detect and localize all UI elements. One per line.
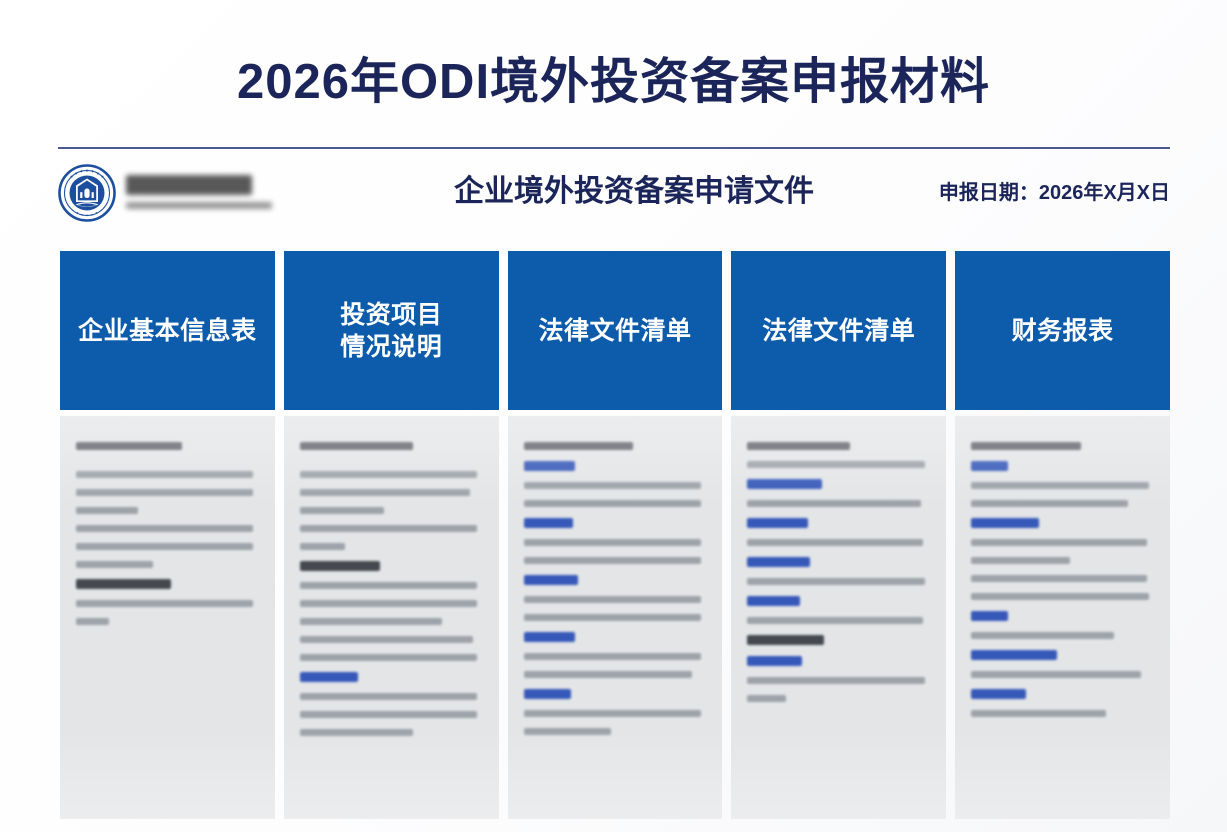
text-line-blue bbox=[524, 689, 572, 699]
text-line-blue bbox=[524, 518, 573, 528]
col-enterprise-info[interactable]: 企业基本信息表 bbox=[60, 251, 275, 819]
text-line-body bbox=[524, 500, 701, 507]
material-columns: 企业基本信息表投资项目 情况说明法律文件清单法律文件清单财务报表 bbox=[60, 251, 1170, 819]
text-line-body bbox=[971, 593, 1148, 600]
text-line-body bbox=[300, 711, 477, 718]
col-project-description-body bbox=[284, 416, 499, 819]
col-legal-docs-1-header-label: 法律文件清单 bbox=[538, 315, 691, 347]
text-line-body bbox=[524, 653, 701, 660]
text-line-body bbox=[747, 500, 921, 507]
col-legal-docs-2[interactable]: 法律文件清单 bbox=[731, 251, 946, 819]
col-financial-statements-header[interactable]: 财务报表 bbox=[955, 251, 1170, 410]
col-financial-statements-text-block bbox=[971, 442, 1154, 717]
text-line-body bbox=[747, 617, 922, 624]
text-line-dark bbox=[76, 442, 182, 450]
text-line-dark bbox=[300, 442, 413, 450]
text-line-body bbox=[747, 461, 924, 468]
text-line-heading bbox=[300, 561, 380, 571]
col-project-description-text-block bbox=[300, 442, 483, 736]
text-line-gap bbox=[76, 461, 259, 465]
text-line-body bbox=[300, 525, 477, 532]
text-line-body bbox=[76, 618, 109, 625]
text-line-body bbox=[300, 582, 477, 589]
col-enterprise-info-body bbox=[60, 416, 275, 819]
slide-page: 2026年ODI境外投资备案申报材料 bbox=[0, 0, 1227, 832]
text-line-body bbox=[971, 500, 1128, 507]
text-line-body bbox=[76, 507, 138, 514]
text-line-blue bbox=[747, 596, 800, 606]
text-line-heading bbox=[76, 579, 171, 589]
text-line-body bbox=[971, 575, 1146, 582]
text-line-dark bbox=[971, 442, 1081, 450]
text-line-blue bbox=[971, 650, 1057, 660]
text-line-body bbox=[300, 600, 477, 607]
text-line-blue bbox=[524, 575, 579, 585]
text-line-blue bbox=[971, 518, 1039, 528]
text-line-body bbox=[300, 654, 477, 661]
col-legal-docs-1-text-block bbox=[524, 442, 707, 735]
col-project-description-header[interactable]: 投资项目 情况说明 bbox=[284, 251, 499, 410]
text-line-body bbox=[76, 600, 253, 607]
text-line-blue bbox=[971, 689, 1026, 699]
company-seal-icon bbox=[58, 164, 116, 222]
text-line-body bbox=[747, 578, 924, 585]
text-line-body bbox=[300, 507, 384, 514]
text-line-body bbox=[524, 539, 701, 546]
text-line-body bbox=[300, 636, 474, 643]
document-subtitle: 企业境外投资备案申请文件 bbox=[374, 170, 894, 214]
col-project-description-header-label: 投资项目 情况说明 bbox=[340, 299, 442, 363]
col-legal-docs-2-body bbox=[731, 416, 946, 819]
text-line-body bbox=[76, 489, 253, 496]
text-line-blue bbox=[747, 479, 822, 489]
text-line-body bbox=[76, 525, 253, 532]
text-line-blue bbox=[300, 672, 358, 682]
col-legal-docs-2-header[interactable]: 法律文件清单 bbox=[731, 251, 946, 410]
submission-date: 申报日期：2026年X月X日 bbox=[939, 178, 1170, 208]
text-line-blue bbox=[524, 461, 575, 471]
text-line-body bbox=[971, 482, 1148, 489]
text-line-blue bbox=[747, 656, 802, 666]
text-line-blue bbox=[747, 557, 809, 567]
text-line-body bbox=[300, 471, 477, 478]
text-line-dark bbox=[524, 442, 634, 450]
text-line-body bbox=[524, 710, 701, 717]
text-line-body bbox=[524, 728, 612, 735]
text-line-body bbox=[524, 482, 701, 489]
col-enterprise-info-text-block bbox=[76, 442, 259, 625]
text-line-body bbox=[747, 677, 924, 684]
brand-logo bbox=[58, 162, 290, 224]
text-line-body bbox=[524, 671, 692, 678]
col-legal-docs-1-body bbox=[508, 416, 723, 819]
text-line-body bbox=[300, 618, 443, 625]
col-legal-docs-2-header-label: 法律文件清单 bbox=[762, 315, 915, 347]
col-financial-statements-body bbox=[955, 416, 1170, 819]
text-line-body bbox=[971, 632, 1114, 639]
col-legal-docs-2-text-block bbox=[747, 442, 930, 702]
text-line-heading bbox=[747, 635, 824, 645]
text-line-body bbox=[747, 539, 922, 546]
text-line-blue bbox=[747, 518, 807, 528]
text-line-body bbox=[971, 710, 1106, 717]
subheader-row: 企业境外投资备案申请文件 申报日期：2026年X月X日 bbox=[58, 158, 1170, 236]
text-line-dark bbox=[747, 442, 849, 450]
text-line-body bbox=[76, 561, 153, 568]
col-financial-statements-header-label: 财务报表 bbox=[1012, 315, 1114, 347]
text-line-body bbox=[524, 557, 701, 564]
col-enterprise-info-header-label: 企业基本信息表 bbox=[78, 315, 257, 347]
page-title-bar: 2026年ODI境外投资备案申报材料 bbox=[0, 52, 1227, 112]
text-line-body bbox=[524, 614, 701, 621]
text-line-body bbox=[971, 539, 1146, 546]
text-line-body bbox=[76, 543, 253, 550]
text-line-body bbox=[300, 729, 413, 736]
header-divider bbox=[58, 147, 1170, 149]
text-line-body bbox=[76, 471, 253, 478]
text-line-body bbox=[971, 557, 1070, 564]
text-line-body bbox=[971, 671, 1141, 678]
text-line-blue bbox=[971, 461, 1008, 471]
col-legal-docs-1[interactable]: 法律文件清单 bbox=[508, 251, 723, 819]
text-line-gap bbox=[300, 461, 483, 465]
text-line-body bbox=[300, 693, 477, 700]
col-financial-statements[interactable]: 财务报表 bbox=[955, 251, 1170, 819]
col-legal-docs-1-header[interactable]: 法律文件清单 bbox=[508, 251, 723, 410]
text-line-body bbox=[524, 596, 701, 603]
text-line-body bbox=[300, 489, 470, 496]
col-project-description[interactable]: 投资项目 情况说明 bbox=[284, 251, 499, 819]
text-line-body bbox=[747, 695, 785, 702]
text-line-blue bbox=[524, 632, 575, 642]
company-wordmark bbox=[126, 171, 278, 215]
text-line-body bbox=[300, 543, 346, 550]
text-line-blue bbox=[971, 611, 1008, 621]
page-title: 2026年ODI境外投资备案申报材料 bbox=[237, 52, 990, 112]
col-enterprise-info-header[interactable]: 企业基本信息表 bbox=[60, 251, 275, 410]
